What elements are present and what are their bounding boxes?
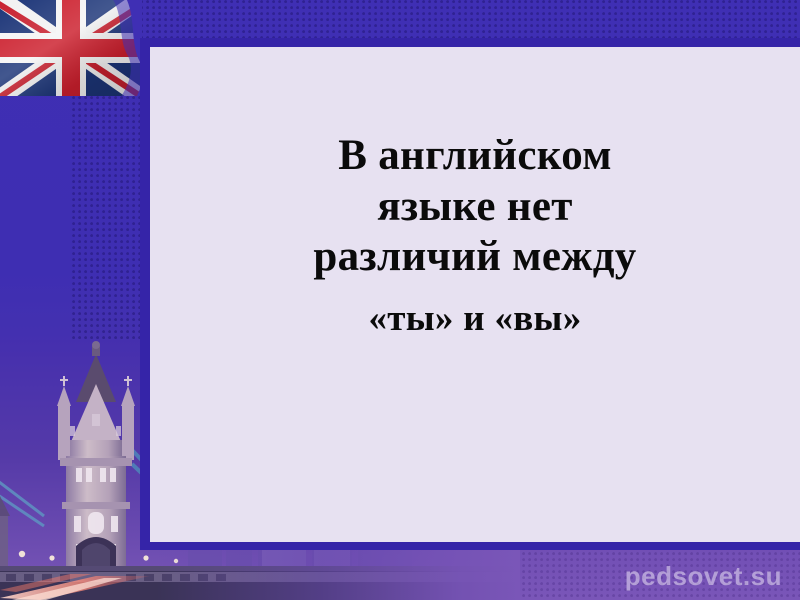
content-card: В английском языке нет различий между «т… [150,47,800,542]
union-jack-flag [0,0,142,96]
presentation-slide: В английском языке нет различий между «т… [0,0,800,600]
title-line-1: В английском [168,131,782,182]
title-line-3: различий между [168,232,782,283]
watermark-pedsovet: pedsovet.su [625,561,782,592]
title-line-2: языке нет [168,182,782,233]
title-line-4: «ты» и «вы» [168,297,782,341]
slide-title-block: В английском языке нет различий между «т… [150,131,800,341]
